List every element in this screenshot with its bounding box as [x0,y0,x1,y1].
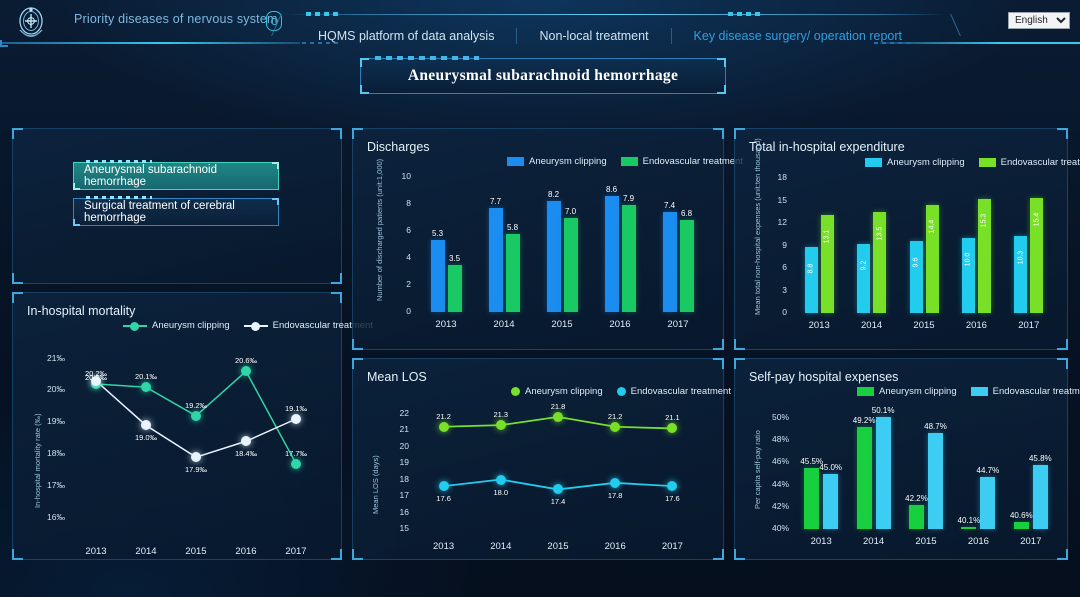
selector-option-cerebral-hemorrhage[interactable]: Surgical treatment of cerebral hemorrhag… [73,198,279,226]
bar-value-label: 8.2 [538,190,570,199]
legend-dot-swatch [617,387,626,396]
chart-title-expenditure: Total in-hospital expenditure [749,140,905,154]
legend-mean-los: Aneurysm clipping Endovascular treatment [511,386,731,397]
bar-value-label: 7.9 [613,194,645,203]
line-paths [415,407,701,529]
legend-discharges: Aneurysm clipping Endovascular treatment [507,156,743,167]
y-tick-label: 20‰ [33,384,65,394]
legend-dot-swatch [511,387,520,396]
nav-frame-diagonal-right [933,14,961,36]
selector-corner-tr [272,162,279,169]
data-point-label: 17.6 [654,494,690,503]
bar-discharges-2013-1[interactable] [448,265,462,312]
data-point-label: 19.1‰ [278,404,314,413]
x-tick-label: 2017 [646,541,698,552]
panel-corner-tl [12,292,23,303]
y-tick-label: 21 [385,424,409,434]
data-point-label: 19.2‰ [178,401,214,410]
bar-value-label: 5.8 [497,223,529,232]
y-tick-label: 16‰ [33,512,65,522]
panel-corner-br [1057,549,1068,560]
bar-value-label: 13.1 [824,227,831,247]
y-tick-label: 19 [385,457,409,467]
data-point-label: 20.6‰ [228,356,264,365]
x-tick-label: 2014 [478,319,530,330]
selector-dash-decor [86,196,152,199]
y-tick-label: 42% [761,501,789,511]
data-point-label: 21.8 [540,402,576,411]
main-nav: HQMS platform of data analysis Non-local… [296,28,924,44]
legend-label: Endovascular treatment [993,386,1080,397]
x-tick-label: 2015 [532,541,584,552]
bar-self-pay-2017-1[interactable] [1033,465,1048,529]
data-point-label: 18.0 [483,488,519,497]
y-tick-label: 21‰ [33,353,65,363]
panel-corner-tr [331,128,342,139]
bar-discharges-2015-0[interactable] [547,201,561,312]
legend-item-aneurysm-clipping[interactable]: Aneurysm clipping [857,386,957,397]
legend-label: Aneurysm clipping [529,156,607,167]
page-title-banner: Aneurysmal subarachnoid hemorrhage [360,58,726,94]
data-point-label: 21.3 [483,410,519,419]
y-tick-label: 46% [761,456,789,466]
y-tick-label: 3 [759,285,787,295]
y-tick-label: 17‰ [33,480,65,490]
plot-area-discharges: 024681020135.33.520147.75.820158.27.0201… [417,177,707,312]
y-tick-label: 6 [383,225,411,235]
panel-corner-bl [734,339,745,350]
x-tick-label: 2013 [793,320,845,331]
legend-bar-swatch [865,158,882,167]
plot-area-expenditure: 036912151820138.813.120149.213.520159.61… [793,171,1055,313]
legend-label: Aneurysm clipping [879,386,957,397]
bar-value-label: 15.3 [981,210,988,230]
nav-item-non-local-treatment[interactable]: Non-local treatment [517,29,670,43]
bar-discharges-2016-0[interactable] [605,196,619,312]
panel-corner-tr [331,292,342,303]
chart-title-mean-los: Mean LOS [367,370,427,384]
selector-option-label: Aneurysmal subarachnoid hemorrhage [84,164,278,188]
data-point-in-hospital-mortality-0-2[interactable] [191,411,201,421]
bar-self-pay-2013-1[interactable] [823,474,838,529]
y-tick-label: 8 [383,198,411,208]
legend-item-aneurysm-clipping[interactable]: Aneurysm clipping [865,157,965,168]
y-tick-label: 10 [383,171,411,181]
y-tick-label: 48% [761,434,789,444]
bar-discharges-2016-1[interactable] [622,205,636,312]
bar-discharges-2017-0[interactable] [663,212,677,312]
data-point-label: 21.2 [597,412,633,421]
legend-item-endovascular-treatment[interactable]: Endovascular treatment [621,156,743,167]
legend-item-endovascular-treatment[interactable]: Endovascular treatment [971,386,1080,397]
x-tick-label: 2015 [900,536,952,547]
selector-option-label: Surgical treatment of cerebral hemorrhag… [84,200,278,224]
legend-label: Endovascular treatment [643,156,743,167]
bar-value-label: 13.5 [876,224,883,244]
x-tick-label: 2014 [848,536,900,547]
bar-value-label: 5.3 [422,229,454,238]
legend-item-endovascular-treatment[interactable]: Endovascular treatment [617,386,731,397]
x-tick-label: 2014 [846,320,898,331]
legend-self-pay: Aneurysm clipping Endovascular treatment [857,386,1080,397]
data-point-mean-los-0-1[interactable] [496,420,506,430]
chart-title-discharges: Discharges [367,140,430,154]
legend-label: Aneurysm clipping [887,157,965,168]
y-tick-label: 50% [761,412,789,422]
data-point-mean-los-1-3[interactable] [610,478,620,488]
header-accent-line-right [880,42,1080,44]
bar-discharges-2015-1[interactable] [564,218,578,313]
panel-corner-bl [734,549,745,560]
x-tick-label: 2016 [589,541,641,552]
bar-self-pay-2015-0[interactable] [909,505,924,529]
x-tick-label: 2013 [420,319,472,330]
legend-expenditure: Aneurysm clipping Endovascular treatment [865,157,1080,168]
selector-option-aneurysmal-sah[interactable]: Aneurysmal subarachnoid hemorrhage [73,162,279,190]
bar-self-pay-2017-0[interactable] [1014,522,1029,529]
page-title: Aneurysmal subarachnoid hemorrhage [361,59,725,93]
nav-item-key-disease-surgery[interactable]: Key disease surgery/ operation report [672,29,924,43]
bar-value-label: 3.5 [439,254,471,263]
y-tick-label: 15 [385,523,409,533]
chart-title-self-pay: Self-pay hospital expenses [749,370,898,384]
nav-frame-line [286,14,946,15]
legend-label: Aneurysm clipping [525,386,603,397]
expenditure-panel: Total in-hospital expenditure Aneurysm c… [734,128,1068,350]
selector-dash-decor [86,160,152,163]
nav-dash-decor-left [306,12,342,16]
data-point-label: 17.9‰ [178,465,214,474]
y-tick-label: 16 [385,507,409,517]
bar-expenditure-2013-0[interactable] [805,247,818,313]
panel-corner-br [331,549,342,560]
legend-bar-swatch [621,157,638,166]
chart-title-mortality: In-hospital mortality [27,304,135,318]
data-point-in-hospital-mortality-0-4[interactable] [291,459,301,469]
data-point-mean-los-0-3[interactable] [610,422,620,432]
data-point-mean-los-1-0[interactable] [439,481,449,491]
bar-value-label: 50.1% [867,406,899,415]
x-tick-label: 2016 [950,320,1002,331]
in-hospital-mortality-panel: In-hospital mortality Aneurysm clipping … [12,292,342,560]
x-tick-label: 2017 [1005,536,1057,547]
y-tick-label: 18 [385,474,409,484]
panel-corner-br [713,549,724,560]
y-tick-label: 4 [383,252,411,262]
panel-corner-tr [713,128,724,139]
y-tick-label: 20 [385,441,409,451]
panel-corner-br [1057,339,1068,350]
bar-value-label: 7.0 [555,207,587,216]
x-tick-label: 2016 [952,536,1004,547]
legend-mortality: Aneurysm clipping Endovascular treatment [123,320,373,331]
bar-discharges-2017-1[interactable] [680,220,694,312]
bar-self-pay-2016-0[interactable] [961,527,976,529]
bar-value-label: 8.8 [808,259,815,279]
data-point-label: 17.6 [426,494,462,503]
data-point-label: 21.1 [654,413,690,422]
panel-corner-bl [352,339,363,350]
legend-item-aneurysm-clipping[interactable]: Aneurysm clipping [511,386,603,397]
selector-corner-bl [73,183,80,190]
data-point-label: 20.3‰ [78,373,114,382]
x-tick-label: 2015 [170,546,222,557]
panel-corner-bl [12,273,23,284]
y-tick-label: 18‰ [33,448,65,458]
data-point-mean-los-0-2[interactable] [553,412,563,422]
x-tick-label: 2017 [270,546,322,557]
x-tick-label: 2014 [120,546,172,557]
y-tick-label: 18 [759,172,787,182]
data-point-label: 17.8 [597,491,633,500]
disease-selector-panel: Aneurysmal subarachnoid hemorrhage Surgi… [12,128,342,284]
bar-value-label: 9.2 [860,256,867,276]
nav-item-hqms-platform[interactable]: HQMS platform of data analysis [296,29,516,43]
bar-value-label: 10.0 [965,250,972,270]
legend-item-endovascular-treatment[interactable]: Endovascular treatment [979,157,1080,168]
x-tick-label: 2017 [652,319,704,330]
legend-line-swatch [244,321,268,330]
axis-label-y-mortality: In-hospital mortality rate (‰) [33,413,42,508]
panel-corner-tl [352,128,363,139]
legend-line-swatch [123,321,147,330]
y-tick-label: 6 [759,262,787,272]
bar-value-label: 6.8 [671,209,703,218]
legend-bar-swatch [507,157,524,166]
bar-discharges-2014-1[interactable] [506,234,520,312]
legend-bar-swatch [971,387,988,396]
app-header: Priority diseases of nervous system HQMS… [0,0,1080,52]
panel-corner-bl [352,549,363,560]
x-tick-label: 2015 [898,320,950,331]
nav-dash-decor-right [728,12,764,16]
y-tick-label: 2 [383,279,411,289]
axis-label-y-mean-los: Mean LOS (days) [371,455,380,514]
y-tick-label: 40% [761,523,789,533]
header-corner-left [0,40,8,47]
x-tick-label: 2013 [795,536,847,547]
bar-value-label: 9.6 [913,253,920,273]
y-tick-label: 19‰ [33,416,65,426]
bar-self-pay-2013-0[interactable] [804,468,819,529]
bar-value-label: 10.3 [1017,248,1024,268]
plot-area-mean-los: 15161718192021222013201420152016201721.2… [415,407,701,529]
panel-corner-br [331,273,342,284]
panel-corner-tr [713,358,724,369]
bar-self-pay-2014-1[interactable] [876,417,891,529]
bar-self-pay-2016-1[interactable] [980,477,995,529]
panel-corner-tr [1057,128,1068,139]
self-pay-panel: Self-pay hospital expenses Aneurysm clip… [734,358,1068,560]
bar-self-pay-2014-0[interactable] [857,427,872,529]
y-tick-label: 22 [385,408,409,418]
bar-value-label: 8.6 [596,185,628,194]
panel-corner-tl [352,358,363,369]
bar-value-label: 48.7% [920,422,952,431]
panel-corner-tr [1057,358,1068,369]
discharges-panel: Discharges Aneurysm clipping Endovascula… [352,128,724,350]
mean-los-panel: Mean LOS Aneurysm clipping Endovascular … [352,358,724,560]
data-point-in-hospital-mortality-1-4[interactable] [291,414,301,424]
legend-item-aneurysm-clipping[interactable]: Aneurysm clipping [123,320,230,331]
data-point-label: 17.4 [540,497,576,506]
x-tick-label: 2015 [536,319,588,330]
language-select[interactable]: English [1008,12,1070,29]
y-tick-label: 12 [759,217,787,227]
y-tick-label: 0 [383,306,411,316]
legend-item-aneurysm-clipping[interactable]: Aneurysm clipping [507,156,607,167]
bar-value-label: 44.7% [972,466,1004,475]
bar-self-pay-2015-1[interactable] [928,433,943,529]
data-point-label: 18.4‰ [228,449,264,458]
bar-value-label: 15.4 [1033,209,1040,229]
y-tick-label: 0 [759,307,787,317]
legend-label: Endovascular treatment [631,386,731,397]
legend-bar-swatch [979,158,996,167]
y-tick-label: 9 [759,240,787,250]
y-tick-label: 44% [761,479,789,489]
bar-value-label: 45.0% [815,463,847,472]
bar-discharges-2013-0[interactable] [431,240,445,312]
header-accent-line-left [0,42,300,44]
selector-corner-bl [73,219,80,226]
data-point-label: 17.7‰ [278,449,314,458]
data-point-label: 19.0‰ [128,433,164,442]
data-point-mean-los-1-1[interactable] [496,475,506,485]
legend-bar-swatch [857,387,874,396]
panel-corner-tl [734,128,745,139]
y-tick-label: 17 [385,490,409,500]
header-title: Priority diseases of nervous system [74,12,278,26]
panel-corner-tl [734,358,745,369]
x-tick-label: 2016 [594,319,646,330]
data-point-mean-los-0-0[interactable] [439,422,449,432]
panel-corner-tl [12,128,23,139]
plot-area-mortality: 16‰17‰18‰19‰20‰21‰2013201420152016201720… [71,349,321,524]
plot-area-self-pay: 40%42%44%46%48%50%201345.5%45.0%201449.2… [795,407,1057,529]
panel-corner-br [713,339,724,350]
bar-value-label: 7.7 [480,197,512,206]
bar-value-label: 14.4 [929,217,936,237]
x-tick-label: 2017 [1003,320,1055,331]
x-tick-label: 2014 [475,541,527,552]
hospital-emblem-icon [12,4,50,44]
x-tick-label: 2016 [220,546,272,557]
bar-value-label: 45.8% [1024,454,1056,463]
legend-label: Aneurysm clipping [152,320,230,331]
x-tick-label: 2013 [418,541,470,552]
y-tick-label: 15 [759,195,787,205]
x-tick-label: 2013 [70,546,122,557]
data-point-label: 20.1‰ [128,372,164,381]
panel-corner-bl [12,549,23,560]
data-point-label: 21.2 [426,412,462,421]
selector-corner-tr [272,198,279,205]
legend-label: Endovascular treatment [1001,157,1080,168]
